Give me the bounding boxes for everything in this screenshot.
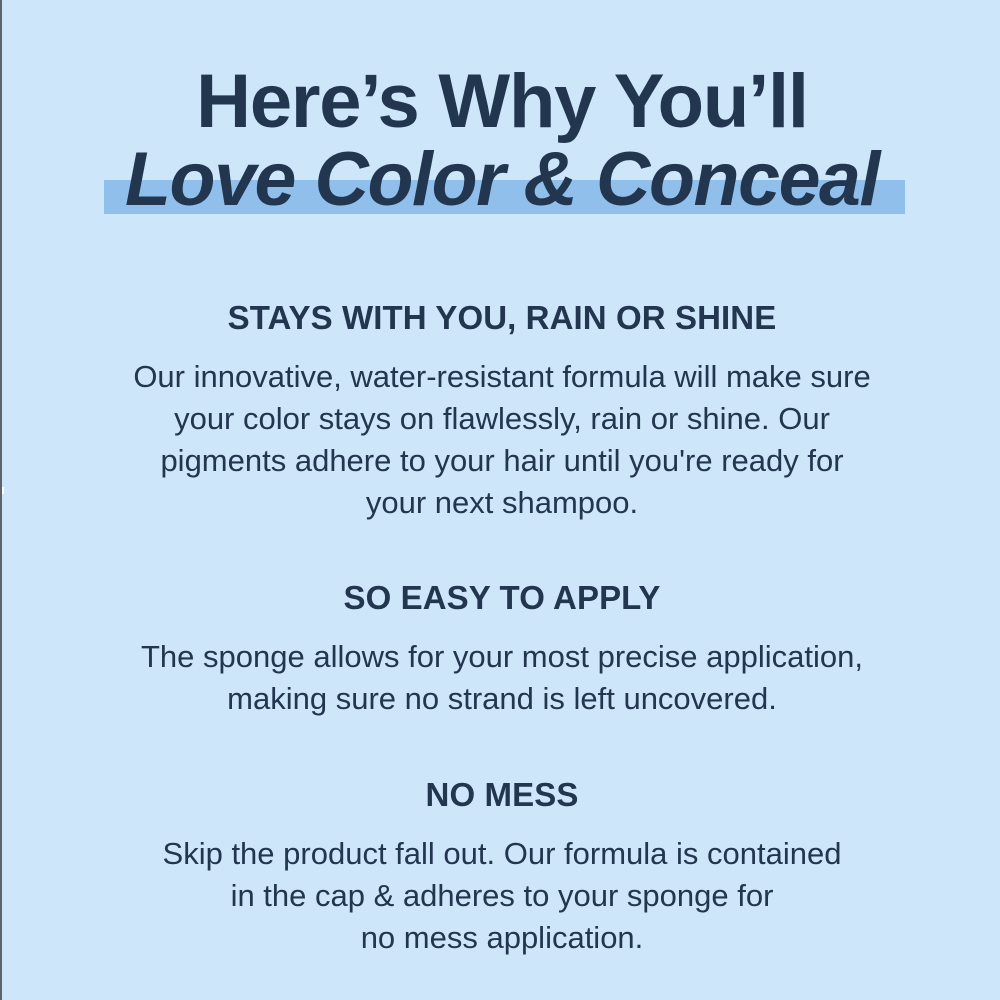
feature-body-line: no mess application.: [62, 917, 942, 959]
hero-title-block: Here’s Why You’ll Love Color & Conceal: [2, 58, 1000, 220]
promo-panel: Here’s Why You’ll Love Color & Conceal S…: [0, 0, 1000, 1000]
feature-body-line: The sponge allows for your most precise …: [62, 636, 942, 678]
feature-section-stays-with-you: STAYS WITH YOU, RAIN OR SHINE Our innova…: [2, 298, 1000, 524]
feature-body-line: in the cap & adheres to your sponge for: [62, 875, 942, 917]
feature-body-line: your color stays on flawlessly, rain or …: [62, 398, 942, 440]
feature-heading: STAYS WITH YOU, RAIN OR SHINE: [2, 298, 1000, 338]
feature-body: The sponge allows for your most precise …: [62, 636, 942, 720]
feature-body-line: Skip the product fall out. Our formula i…: [62, 833, 942, 875]
feature-body: Our innovative, water-resistant formula …: [62, 356, 942, 524]
feature-body-line: pigments adhere to your hair until you'r…: [62, 440, 942, 482]
feature-body-line: making sure no strand is left uncovered.: [62, 678, 942, 720]
hero-title-line-2: Love Color & Conceal: [7, 140, 997, 220]
feature-body-line: Our innovative, water-resistant formula …: [62, 356, 942, 398]
hero-title-line-2-wrapper: Love Color & Conceal: [2, 140, 1000, 220]
feature-heading: SO EASY TO APPLY: [2, 578, 1000, 618]
feature-heading: NO MESS: [2, 775, 1000, 815]
feature-section-so-easy-to-apply: SO EASY TO APPLY The sponge allows for y…: [2, 578, 1000, 720]
feature-section-no-mess: NO MESS Skip the product fall out. Our f…: [2, 775, 1000, 959]
feature-body-line: your next shampoo.: [62, 482, 942, 524]
feature-list: STAYS WITH YOU, RAIN OR SHINE Our innova…: [2, 298, 1000, 959]
feature-body: Skip the product fall out. Our formula i…: [62, 833, 942, 959]
hero-title-line-1: Here’s Why You’ll: [2, 58, 1000, 146]
